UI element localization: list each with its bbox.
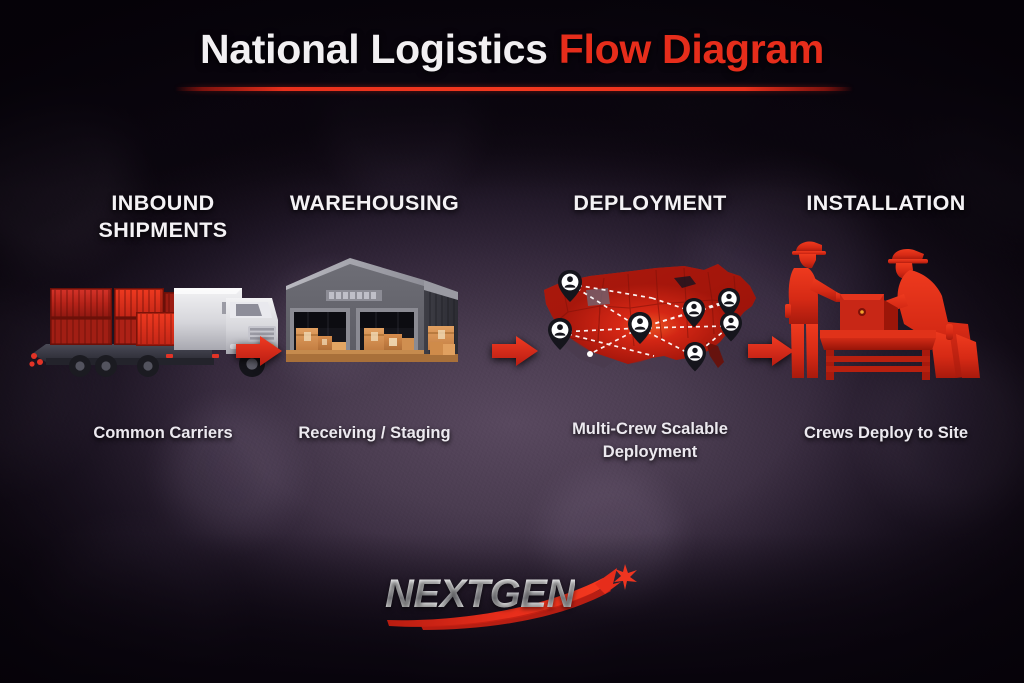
usa-map-with-crew-location-pins-icon (528, 246, 772, 386)
stage-heading-line1: INBOUND (26, 190, 300, 217)
warehouse-building-with-boxes-icon (272, 246, 477, 386)
title-divider-rule (175, 87, 853, 91)
stage-heading-line1: INSTALLATION (780, 190, 992, 217)
map-illustration (528, 246, 772, 386)
installers-illustration (780, 238, 992, 378)
stage-heading-inbound-shipments: INBOUND SHIPMENTS (26, 190, 300, 244)
page-title-accent: Flow Diagram (559, 26, 824, 72)
stage-heading-line1: WAREHOUSING (272, 190, 477, 217)
truck-illustration (26, 258, 300, 398)
brand-logo-text: NEXTGEN (385, 572, 575, 617)
stage-heading-line1: DEPLOYMENT (528, 190, 772, 217)
stage-heading-installation: INSTALLATION (780, 190, 992, 217)
page-title: National Logistics Flow Diagram (0, 26, 1024, 73)
semi-truck-with-red-shipping-containers-icon (26, 258, 300, 398)
two-workers-at-workbench-silhouette-icon (780, 238, 992, 388)
brand-logo: NEXTGEN (0, 560, 1024, 635)
stage-heading-warehousing: WAREHOUSING (272, 190, 477, 217)
page-title-primary: National Logistics (200, 26, 559, 72)
stage-caption-installation: Crews Deploy to Site (780, 422, 992, 445)
stage-caption-inbound-shipments: Common Carriers (26, 422, 300, 445)
stage-heading-deployment: DEPLOYMENT (528, 190, 772, 217)
logistics-flow-infographic: National Logistics Flow Diagram INBOUND … (0, 0, 1024, 683)
stage-heading-line2: SHIPMENTS (26, 217, 300, 244)
warehouse-illustration (272, 246, 477, 386)
stage-caption-deployment: Multi-Crew Scalable Deployment (528, 418, 772, 464)
stage-caption-warehousing: Receiving / Staging (272, 422, 477, 445)
